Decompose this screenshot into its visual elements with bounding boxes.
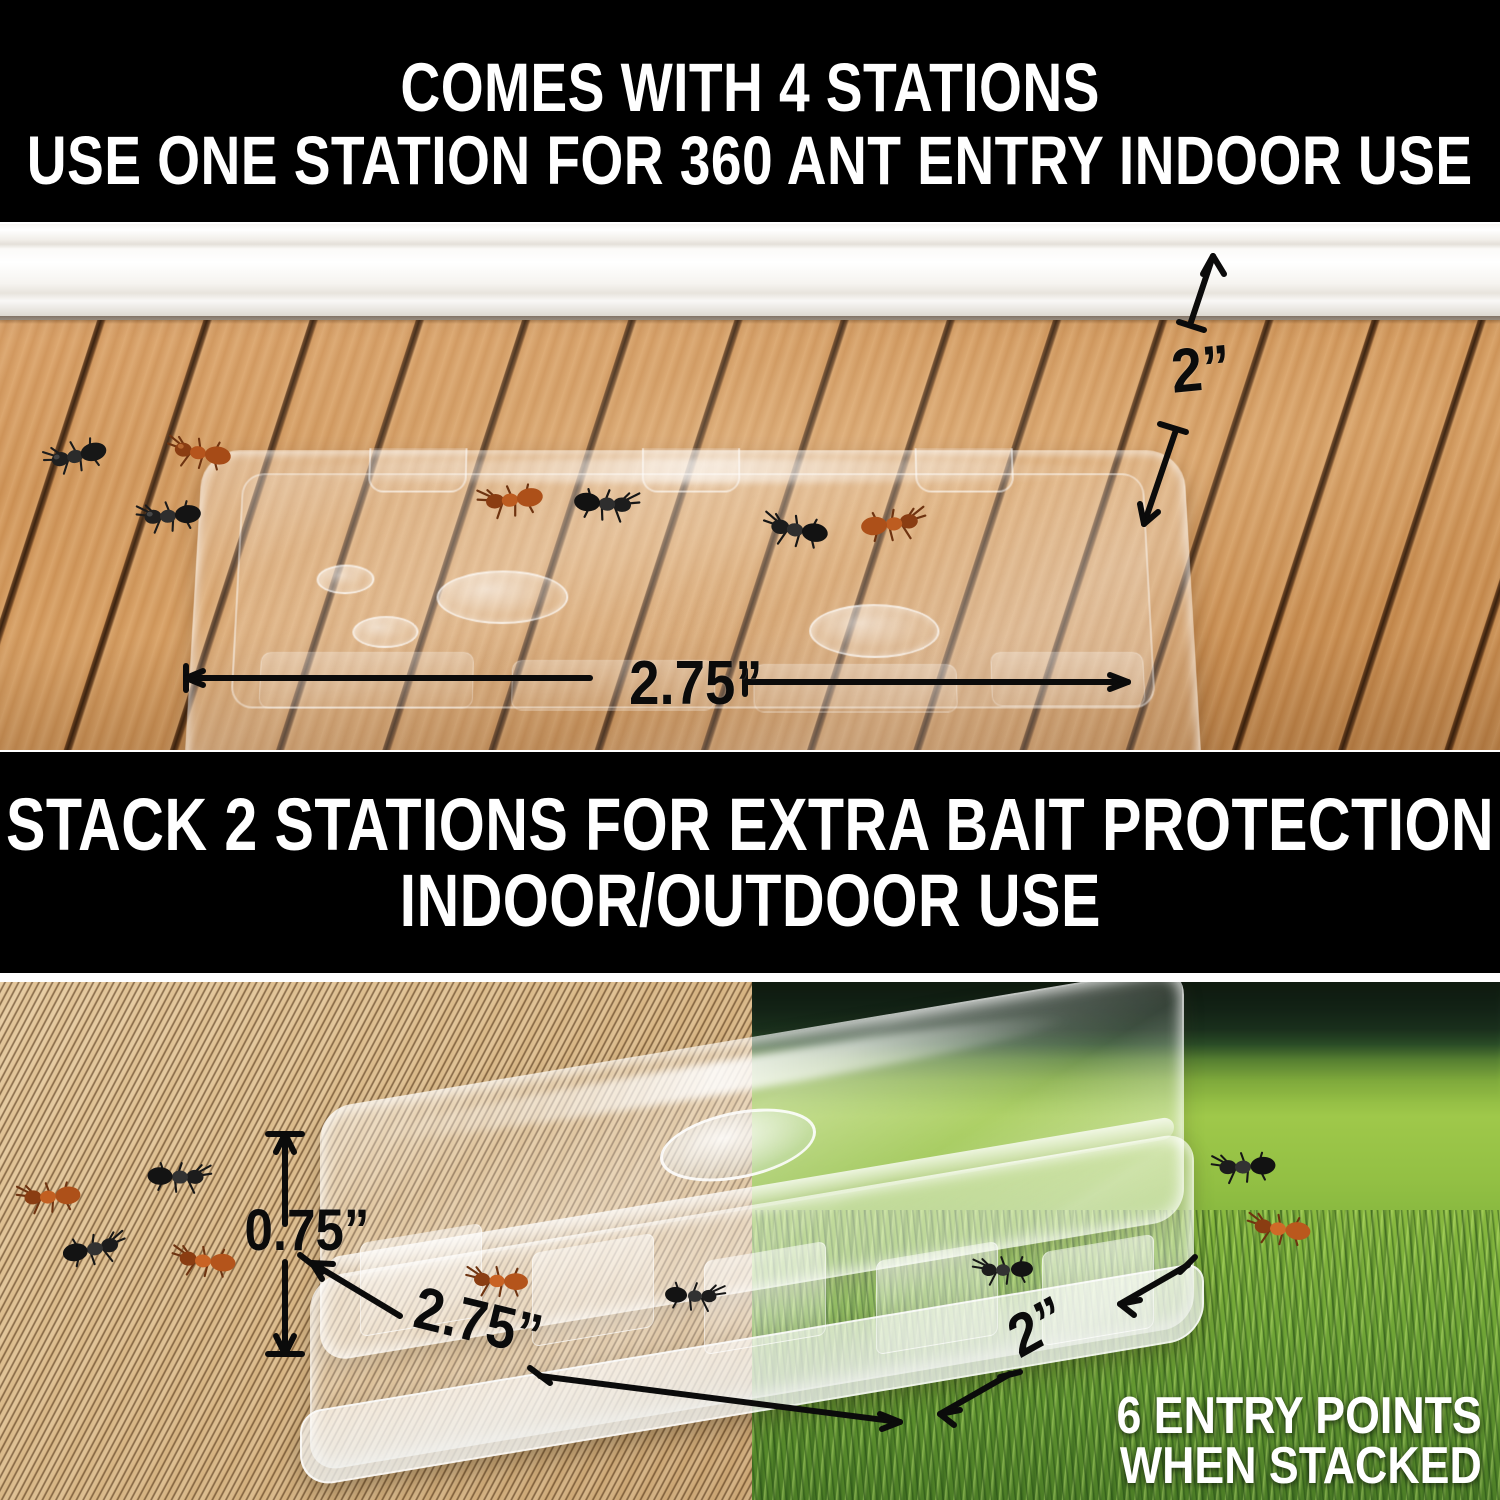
bait-station-entry-ridge [753,664,958,713]
product-infographic: COMES WITH 4 STATIONS USE ONE STATION FO… [0,0,1500,1500]
baseboard-molding [0,224,1500,320]
width-dimension-label-top: 2.75” [629,648,762,719]
entry-points-caption-line-1: 6 ENTRY POINTS [1117,1392,1482,1442]
bait-station-highlight [260,458,1126,483]
height-dimension-label-bottom: 0.75” [245,1197,370,1264]
ant-grass-black-1 [1204,1147,1284,1186]
bait-station-entry-ridge [990,652,1145,706]
middle-headline-line-1: STACK 2 STATIONS FOR EXTRA BAIT PROTECTI… [6,790,1494,860]
middle-headline-line-2: INDOOR/OUTDOOR USE [399,866,1100,936]
bait-station-stacked-pair [300,1037,1200,1437]
bait-station-entry-ridge [258,652,474,709]
ant-stack-black-1 [657,1278,731,1315]
top-headline-banner: COMES WITH 4 STATIONS USE ONE STATION FO… [0,0,1500,222]
top-headline-line-1: COMES WITH 4 STATIONS [400,56,1099,121]
indoor-outdoor-stacked-station-photo: 0.75” 2.75” [0,982,1500,1500]
ant-bl-red-1 [9,1177,90,1218]
indoor-single-station-photo: 2.75” 2” [0,224,1500,750]
ant-bl-black-1 [139,1158,219,1196]
bait-station-entry-hole [809,604,940,658]
floor-top-trim [0,982,752,1004]
entry-points-caption-line-2: WHEN STACKED [1117,1442,1482,1492]
depth-dimension-label-top: 2” [1169,331,1233,407]
baseboard-shadow [0,316,1500,324]
entry-points-caption: 6 ENTRY POINTS WHEN STACKED [1057,1392,1482,1492]
middle-headline-banner: STACK 2 STATIONS FOR EXTRA BAIT PROTECTI… [0,752,1500,973]
ant-stack-black-2 [967,1252,1041,1288]
ant-bl-red-2 [164,1241,245,1282]
top-headline-line-2: USE ONE STATION FOR 360 ANT ENTRY INDOOR… [27,129,1473,194]
bait-station-entry-hole [436,570,569,623]
